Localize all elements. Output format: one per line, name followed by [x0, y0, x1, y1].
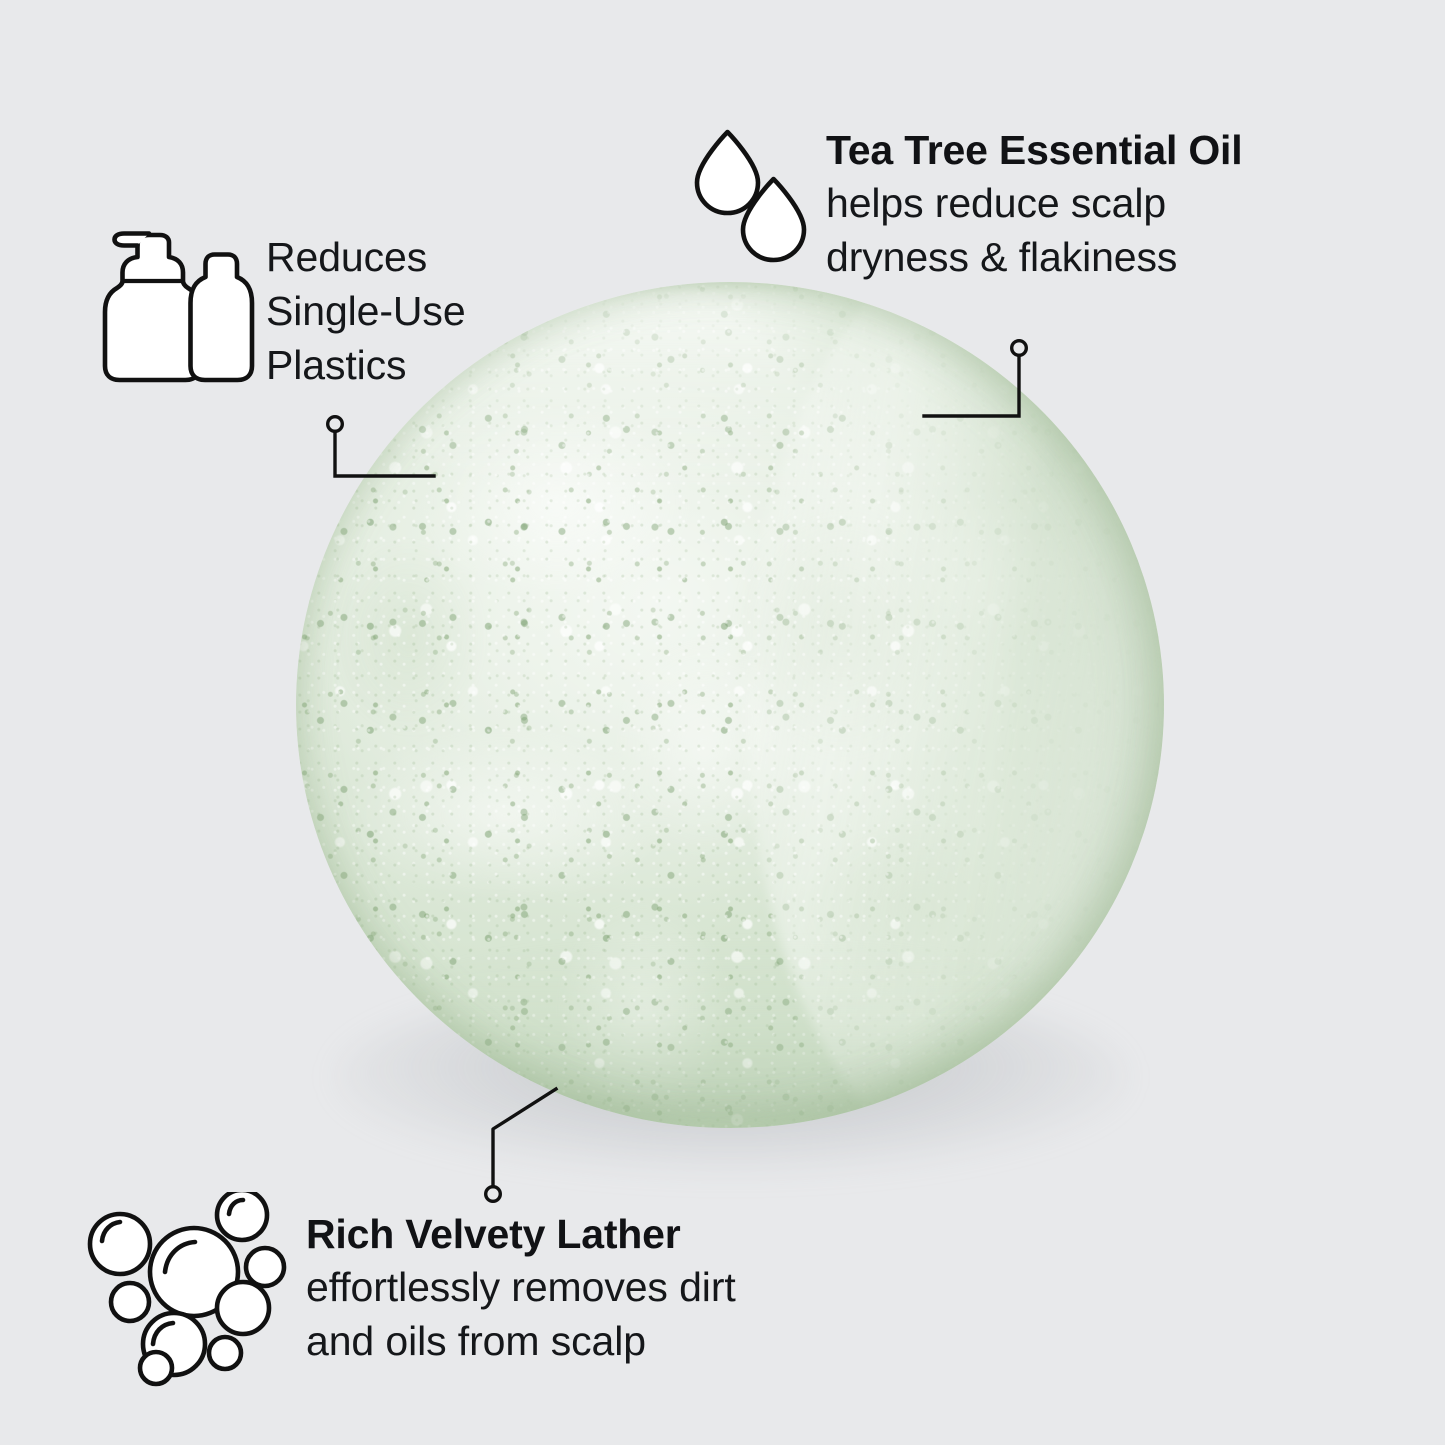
callout-teatree: Tea Tree Essential Oil helps reduce scal…	[826, 124, 1242, 284]
callout-lather-title: Rich Velvety Lather	[306, 1208, 736, 1260]
callout-plastics-line2: Single-Use	[266, 284, 466, 338]
water-drops-icon	[690, 126, 818, 268]
callout-lather-line1: effortlessly removes dirt	[306, 1260, 736, 1314]
callout-plastics: Reduces Single-Use Plastics	[266, 230, 466, 392]
callout-lather: Rich Velvety Lather effortlessly removes…	[306, 1208, 736, 1368]
callout-teatree-line1: helps reduce scalp	[826, 176, 1242, 230]
callout-plastics-line1: Reduces	[266, 230, 466, 284]
leader-line-plastics	[322, 412, 442, 488]
infographic-canvas: Reduces Single-Use Plastics Tea Tree Ess…	[0, 0, 1445, 1445]
bubbles-icon	[82, 1192, 310, 1408]
plastic-bottles-icon	[92, 226, 258, 388]
callout-teatree-line2: dryness & flakiness	[826, 230, 1242, 284]
callout-plastics-line3: Plastics	[266, 338, 466, 392]
leader-line-teatree	[918, 336, 1038, 428]
leader-line-lather	[476, 1082, 586, 1208]
callout-teatree-title: Tea Tree Essential Oil	[826, 124, 1242, 176]
callout-lather-line2: and oils from scalp	[306, 1314, 736, 1368]
